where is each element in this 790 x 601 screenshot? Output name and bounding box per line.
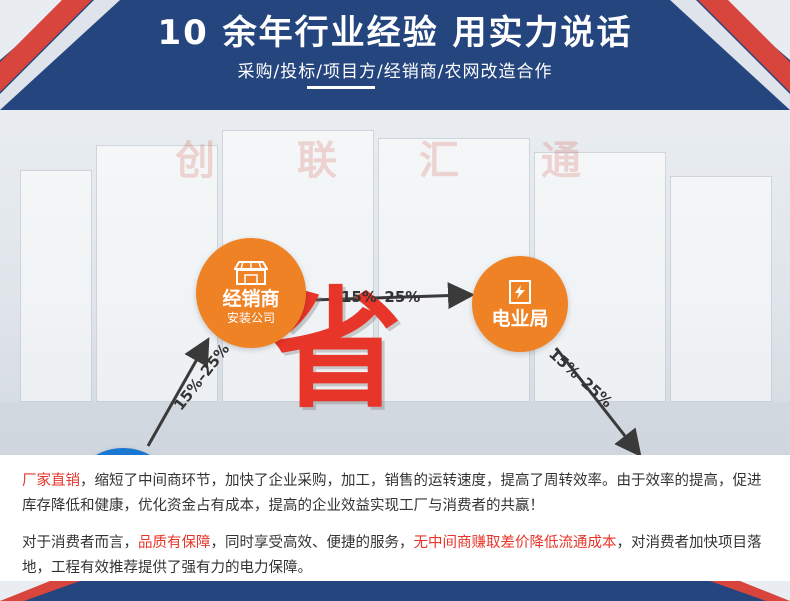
footer-decoration: [0, 581, 790, 601]
paragraph-1-text: ，缩短了中间商环节，加快了企业采购，加工，销售的运转速度，提高了周转效率。由于效…: [22, 473, 762, 514]
page-root: 10 余年行业经验 用实力说话 采购/投标/项目方/经销商/农网改造合作 创 联…: [0, 0, 790, 601]
node-dealer[interactable]: 经销商 安装公司: [196, 238, 306, 348]
header-subtitle: 采购/投标/项目方/经销商/农网改造合作: [0, 60, 790, 84]
paragraph-2-segment-1: 对于消费者而言，: [22, 535, 138, 551]
node-dealer-sublabel: 安装公司: [227, 310, 275, 326]
paragraph-1: 厂家直销，缩短了中间商环节，加快了企业采购，加工，销售的运转速度，提高了周转效率…: [22, 469, 768, 519]
flow-diagram: 创 联 汇 通 省: [0, 110, 790, 455]
paragraph-1-highlight: 厂家直销: [22, 473, 80, 489]
node-dealer-label: 经销商: [222, 288, 279, 310]
paragraph-2-highlight-1: 品质有保障: [138, 535, 211, 551]
header-banner: 10 余年行业经验 用实力说话 采购/投标/项目方/经销商/农网改造合作: [0, 0, 790, 110]
node-power-bureau[interactable]: 电业局: [472, 256, 568, 352]
header-subtitle-underline: [307, 86, 375, 89]
paragraph-2-segment-2: ，同时享受高效、便捷的服务，: [211, 535, 414, 551]
arrow-label-dealer-to-power: 15%–25%: [341, 288, 420, 306]
footer-strip: [0, 581, 790, 601]
paragraph-2: 对于消费者而言，品质有保障，同时享受高效、便捷的服务，无中间商赚取差价降低流通成…: [22, 531, 768, 581]
building-icon: [506, 278, 534, 306]
paragraph-2-highlight-2: 无中间商赚取差价降低流通成本: [414, 535, 617, 551]
description-section: 厂家直销，缩短了中间商环节，加快了企业采购，加工，销售的运转速度，提高了周转效率…: [0, 455, 790, 581]
page-title: 10 余年行业经验 用实力说话: [0, 12, 790, 54]
node-power-bureau-label: 电业局: [491, 308, 548, 330]
shop-icon: [234, 260, 268, 286]
